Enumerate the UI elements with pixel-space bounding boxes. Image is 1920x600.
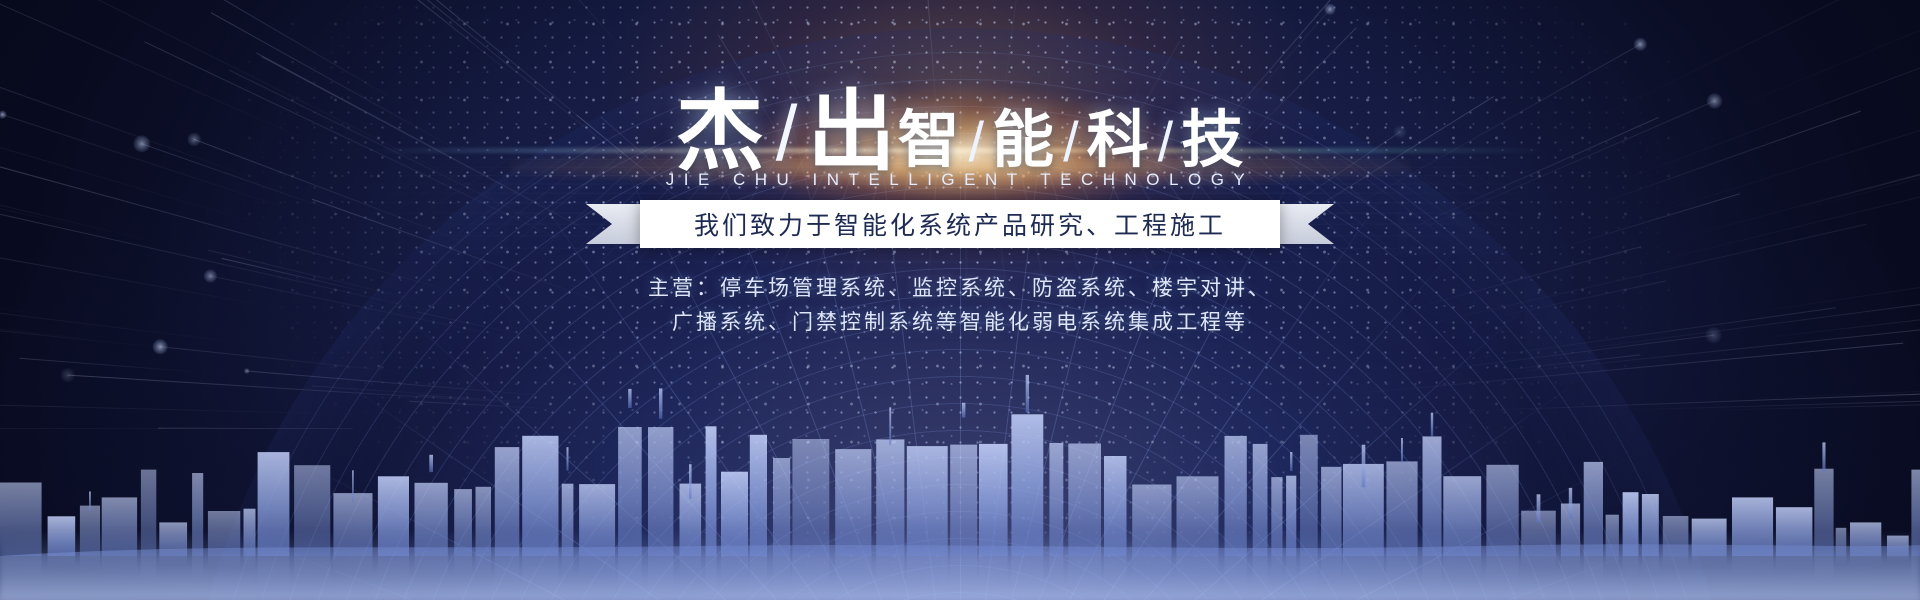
ribbon-body: 我们致力于智能化系统产品研究、工程施工 xyxy=(640,200,1280,248)
description-line-1: 主营：停车场管理系统、监控系统、防盗系统、楼宇对讲、 xyxy=(0,272,1920,306)
title-char: 科 xyxy=(1087,110,1150,172)
ribbon-banner: 我们致力于智能化系统产品研究、工程施工 xyxy=(640,200,1280,248)
title-char: 智 xyxy=(897,110,960,172)
title-char: 技 xyxy=(1181,110,1244,172)
title-slash: / xyxy=(968,114,984,170)
title-slash: / xyxy=(776,94,798,172)
title-char: 出 xyxy=(807,88,897,176)
title-slash: / xyxy=(1063,114,1079,170)
title-char: 能 xyxy=(992,110,1055,172)
description-line-2: 广播系统、门禁控制系统等智能化弱电系统集成工程等 xyxy=(0,306,1920,340)
title-char: 杰 xyxy=(676,88,766,176)
english-subtitle: JIE CHU INTELLIGENT TECHNOLOGY xyxy=(0,170,1920,190)
banner-content: 杰/出智/能/科/技 JIE CHU INTELLIGENT TECHNOLOG… xyxy=(0,0,1920,600)
main-title: 杰/出智/能/科/技 xyxy=(0,88,1920,176)
ribbon-text: 我们致力于智能化系统产品研究、工程施工 xyxy=(694,206,1226,242)
title-slash: / xyxy=(1158,114,1174,170)
service-description: 主营：停车场管理系统、监控系统、防盗系统、楼宇对讲、 广播系统、门禁控制系统等智… xyxy=(0,272,1920,340)
hero-banner: 杰/出智/能/科/技 JIE CHU INTELLIGENT TECHNOLOG… xyxy=(0,0,1920,600)
